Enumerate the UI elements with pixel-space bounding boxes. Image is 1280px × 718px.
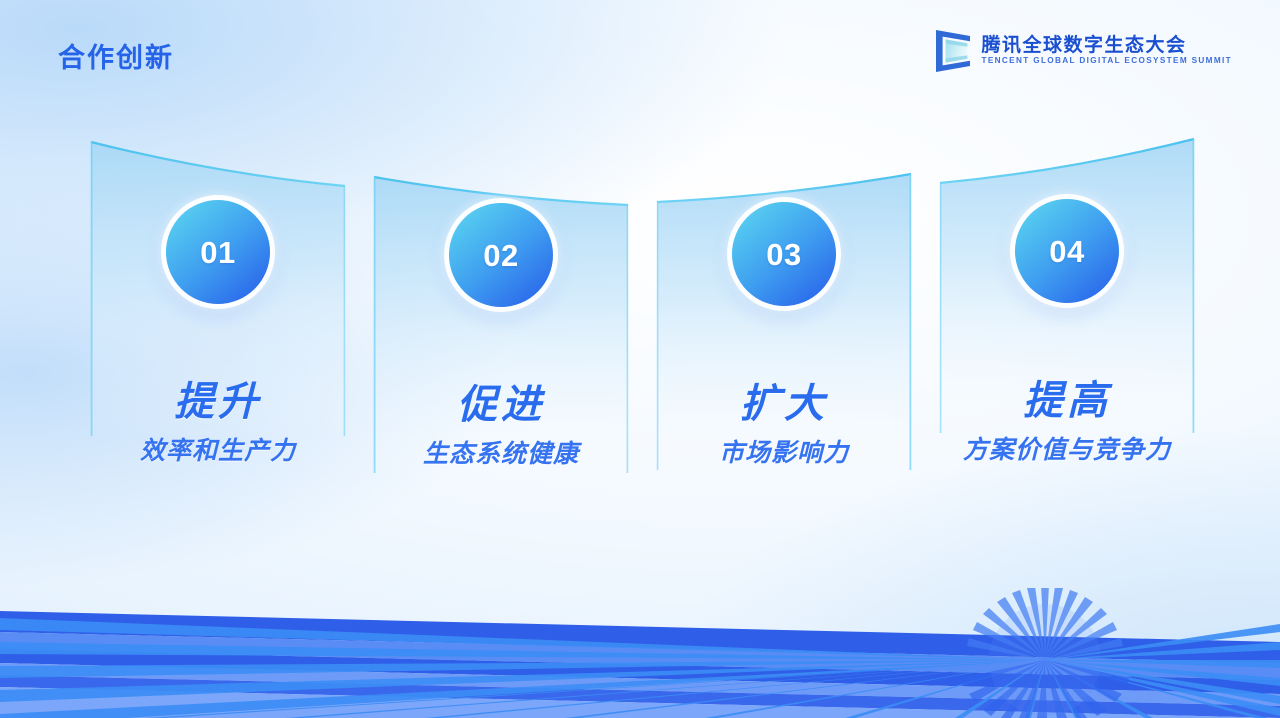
diagonal-stripes: [0, 611, 1280, 718]
card-number: 02: [483, 240, 518, 271]
card-subtitle: 效率和生产力: [89, 439, 347, 464]
card-number-badge: 01: [166, 200, 270, 304]
page-title: 合作创新: [58, 36, 174, 75]
logo-wordmark: 腾讯全球数字生态大会 TENCENT GLOBAL DIGITAL ECOSYS…: [981, 36, 1232, 65]
card-content: 01 提升 效率和生产力: [89, 200, 347, 464]
card-number: 04: [1049, 236, 1084, 267]
slide-canvas: 合作创新 腾讯全球数字生态大会 TENCENT: [0, 0, 1280, 718]
event-logo: 腾讯全球数字生态大会 TENCENT GLOBAL DIGITAL ECOSYS…: [934, 28, 1232, 74]
card-number-badge: 04: [1015, 199, 1119, 303]
tencent-summit-bracket-icon: [934, 28, 972, 74]
card-content: 04 提高 方案价值与竞争力: [938, 199, 1196, 463]
card-number-badge: 03: [732, 202, 836, 306]
card-number-badge: 02: [449, 203, 553, 307]
card-subtitle: 生态系统健康: [372, 442, 630, 467]
card-content: 03 扩大 市场影响力: [655, 202, 913, 466]
card-heading: 提升: [89, 382, 347, 422]
card-heading: 扩大: [655, 384, 913, 424]
card-number: 01: [200, 237, 235, 268]
card-heading: 提高: [938, 381, 1196, 421]
card-number: 03: [766, 239, 801, 270]
card-subtitle: 方案价值与竞争力: [938, 438, 1196, 463]
logo-title-cn: 腾讯全球数字生态大会: [981, 36, 1232, 55]
card-heading: 促进: [372, 385, 630, 425]
card-subtitle: 市场影响力: [655, 441, 913, 466]
card-content: 02 促进 生态系统健康: [372, 203, 630, 467]
logo-title-en: TENCENT GLOBAL DIGITAL ECOSYSTEM SUMMIT: [981, 57, 1232, 65]
starburst-rays: [0, 588, 1280, 718]
bottom-decoration: [0, 588, 1280, 718]
slide-header: 合作创新 腾讯全球数字生态大会 TENCENT: [0, 0, 1280, 108]
